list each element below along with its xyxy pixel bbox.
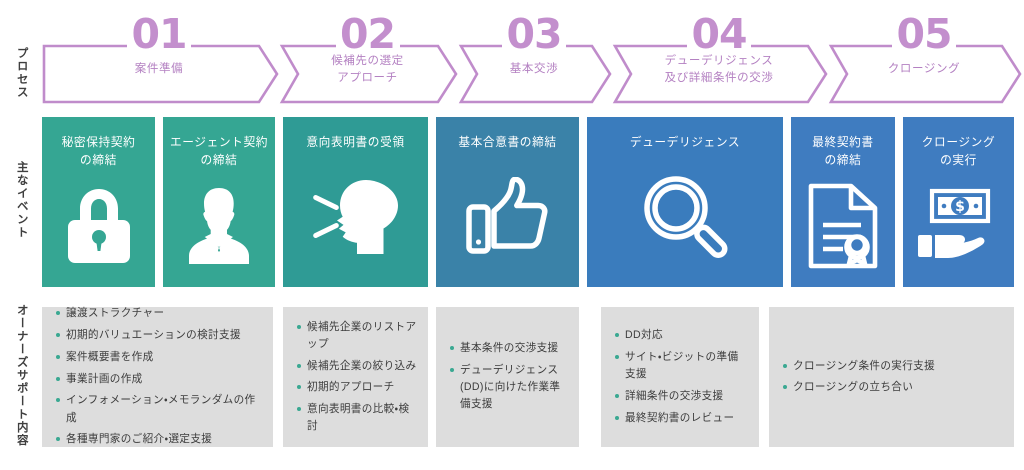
- support-panel: 譲渡ストラクチャー初期的バリュエーションの検討支援案件概要書を作成事業計画の作成…: [42, 307, 273, 447]
- bullet-icon: [297, 325, 301, 329]
- event-card[interactable]: 意向表明書の受領: [283, 117, 428, 287]
- support-list-item-text: 候補先企業のリストアップ: [307, 319, 418, 353]
- event-card-title: 秘密保持契約の締結: [56, 134, 142, 170]
- support-panel: DD対応サイト・ビジットの準備支援詳細条件の交渉支援最終契約書のレビュー: [601, 307, 759, 447]
- row-label-events: 主なイベント: [6, 140, 36, 260]
- support-list-item: 譲渡ストラクチャー: [56, 305, 263, 322]
- bullet-icon: [450, 346, 454, 350]
- support-panel: 基本条件の交渉支援デューデリジェンス(DD)に向けた作業準備支援: [436, 307, 579, 447]
- process-band: 01案件準備02候補先の選定アプローチ03基本交渉04デューデリジェンス及び詳細…: [42, 44, 1014, 104]
- process-step-title: 案件準備: [42, 61, 276, 78]
- event-card-title: 基本合意書の締結: [452, 134, 562, 152]
- process-step-01[interactable]: 01案件準備: [42, 44, 276, 104]
- bullet-icon: [783, 364, 787, 368]
- support-panel: 候補先企業のリストアップ候補先企業の絞り込み初期的アプローチ意向表明書の比較・検…: [283, 307, 428, 447]
- support-list-item-text: 各種専門家のご紹介・選定支援: [66, 431, 263, 448]
- support-list-item: 候補先企業のリストアップ: [297, 319, 418, 353]
- support-list-item-text: 最終契約書のレビュー: [625, 410, 749, 427]
- event-card-title: 意向表明書の受領: [300, 134, 410, 152]
- support-list-item-text: 候補先企業の絞り込み: [307, 358, 418, 375]
- bullet-icon: [297, 407, 301, 411]
- process-step-title: クロージング: [829, 61, 1019, 78]
- support-list-item-text: インフォメーション・メモランダムの作成: [66, 392, 263, 426]
- support-list-item: 案件概要書を作成: [56, 349, 263, 366]
- support-list-item-text: 案件概要書を作成: [66, 349, 263, 366]
- speaking-head-icon: [283, 152, 428, 287]
- bullet-icon: [56, 311, 60, 315]
- magnifying-glass-icon: [587, 152, 783, 287]
- process-step-number: 04: [613, 14, 825, 55]
- support-list-item: 意向表明書の比較・検討: [297, 401, 418, 435]
- process-step-title: 候補先の選定アプローチ: [280, 53, 455, 86]
- support-list-item: 最終契約書のレビュー: [615, 410, 749, 427]
- support-list-item: 候補先企業の絞り込み: [297, 358, 418, 375]
- support-list-item-text: 譲渡ストラクチャー: [66, 305, 263, 322]
- support-list-item-text: デューデリジェンス(DD)に向けた作業準備支援: [460, 362, 569, 413]
- support-list-item-text: クロージング条件の実行支援: [793, 358, 1004, 375]
- thumbs-up-icon: [436, 152, 579, 287]
- support-list-item-text: サイト・ビジットの準備支援: [625, 349, 749, 383]
- support-list-item-text: 初期的アプローチ: [307, 379, 418, 396]
- bullet-icon: [450, 368, 454, 372]
- event-card-title: エージェント契約の締結: [164, 134, 274, 170]
- support-list-item: クロージングの立ち合い: [783, 379, 1004, 396]
- svg-text:$: $: [955, 199, 965, 215]
- support-list-item: 詳細条件の交渉支援: [615, 388, 749, 405]
- event-card[interactable]: クロージングの実行 $: [903, 117, 1014, 287]
- row-label-support: オーナーズサポート内容: [6, 300, 36, 450]
- bullet-icon: [56, 377, 60, 381]
- process-step-number: 01: [42, 14, 276, 55]
- support-list-item: 初期的バリュエーションの検討支援: [56, 327, 263, 344]
- certificate-document-icon: [791, 170, 895, 287]
- money-in-hand-icon: $: [903, 170, 1014, 287]
- support-list-item: 基本条件の交渉支援: [450, 340, 569, 357]
- support-list-item: 初期的アプローチ: [297, 379, 418, 396]
- process-diagram: プロセス 主なイベント オーナーズサポート内容 01案件準備02候補先の選定アプ…: [0, 0, 1024, 470]
- event-card[interactable]: デューデリジェンス: [587, 117, 783, 287]
- support-list-item: DD対応: [615, 327, 749, 344]
- support-list-item: デューデリジェンス(DD)に向けた作業準備支援: [450, 362, 569, 413]
- bullet-icon: [297, 364, 301, 368]
- support-list-item: 各種専門家のご紹介・選定支援: [56, 431, 263, 448]
- support-list-item: 事業計画の作成: [56, 371, 263, 388]
- bullet-icon: [56, 398, 60, 402]
- bullet-icon: [615, 416, 619, 420]
- process-step-number: 03: [459, 14, 609, 55]
- process-step-title: デューデリジェンス及び詳細条件の交渉: [613, 53, 825, 86]
- bullet-icon: [56, 437, 60, 441]
- businessperson-icon: [163, 170, 275, 287]
- bullet-icon: [56, 355, 60, 359]
- bullet-icon: [615, 394, 619, 398]
- event-card-title: 最終契約書の締結: [806, 134, 879, 170]
- process-step-number: 05: [829, 14, 1019, 55]
- bullet-icon: [783, 385, 787, 389]
- event-card[interactable]: 基本合意書の締結: [436, 117, 579, 287]
- event-card[interactable]: 最終契約書の締結: [791, 117, 895, 287]
- support-list-item-text: 事業計画の作成: [66, 371, 263, 388]
- support-list-item: インフォメーション・メモランダムの作成: [56, 392, 263, 426]
- event-card-title: デューデリジェンス: [624, 134, 746, 152]
- support-list-item-text: 詳細条件の交渉支援: [625, 388, 749, 405]
- support-list-item: クロージング条件の実行支援: [783, 358, 1004, 375]
- support-list-item-text: 基本条件の交渉支援: [460, 340, 569, 357]
- event-card[interactable]: エージェント契約の締結: [163, 117, 275, 287]
- support-list-item-text: クロージングの立ち合い: [793, 379, 1004, 396]
- support-list-item: サイト・ビジットの準備支援: [615, 349, 749, 383]
- process-step-03[interactable]: 03基本交渉: [459, 44, 609, 104]
- bullet-icon: [615, 355, 619, 359]
- bullet-icon: [615, 333, 619, 337]
- process-step-title: 基本交渉: [459, 61, 609, 78]
- bullet-icon: [297, 385, 301, 389]
- support-list-item-text: 初期的バリュエーションの検討支援: [66, 327, 263, 344]
- support-list-item-text: DD対応: [625, 327, 749, 344]
- event-card[interactable]: 秘密保持契約の締結: [42, 117, 155, 287]
- process-step-02[interactable]: 02候補先の選定アプローチ: [280, 44, 455, 104]
- row-label-process: プロセス: [6, 38, 36, 108]
- process-step-number: 02: [280, 14, 455, 55]
- process-step-05[interactable]: 05クロージング: [829, 44, 1019, 104]
- event-card-title: クロージングの実行: [916, 134, 1002, 170]
- support-panel: クロージング条件の実行支援クロージングの立ち合い: [769, 307, 1014, 447]
- bullet-icon: [56, 333, 60, 337]
- support-list-item-text: 意向表明書の比較・検討: [307, 401, 418, 435]
- process-step-04[interactable]: 04デューデリジェンス及び詳細条件の交渉: [613, 44, 825, 104]
- padlock-icon: [42, 170, 155, 287]
